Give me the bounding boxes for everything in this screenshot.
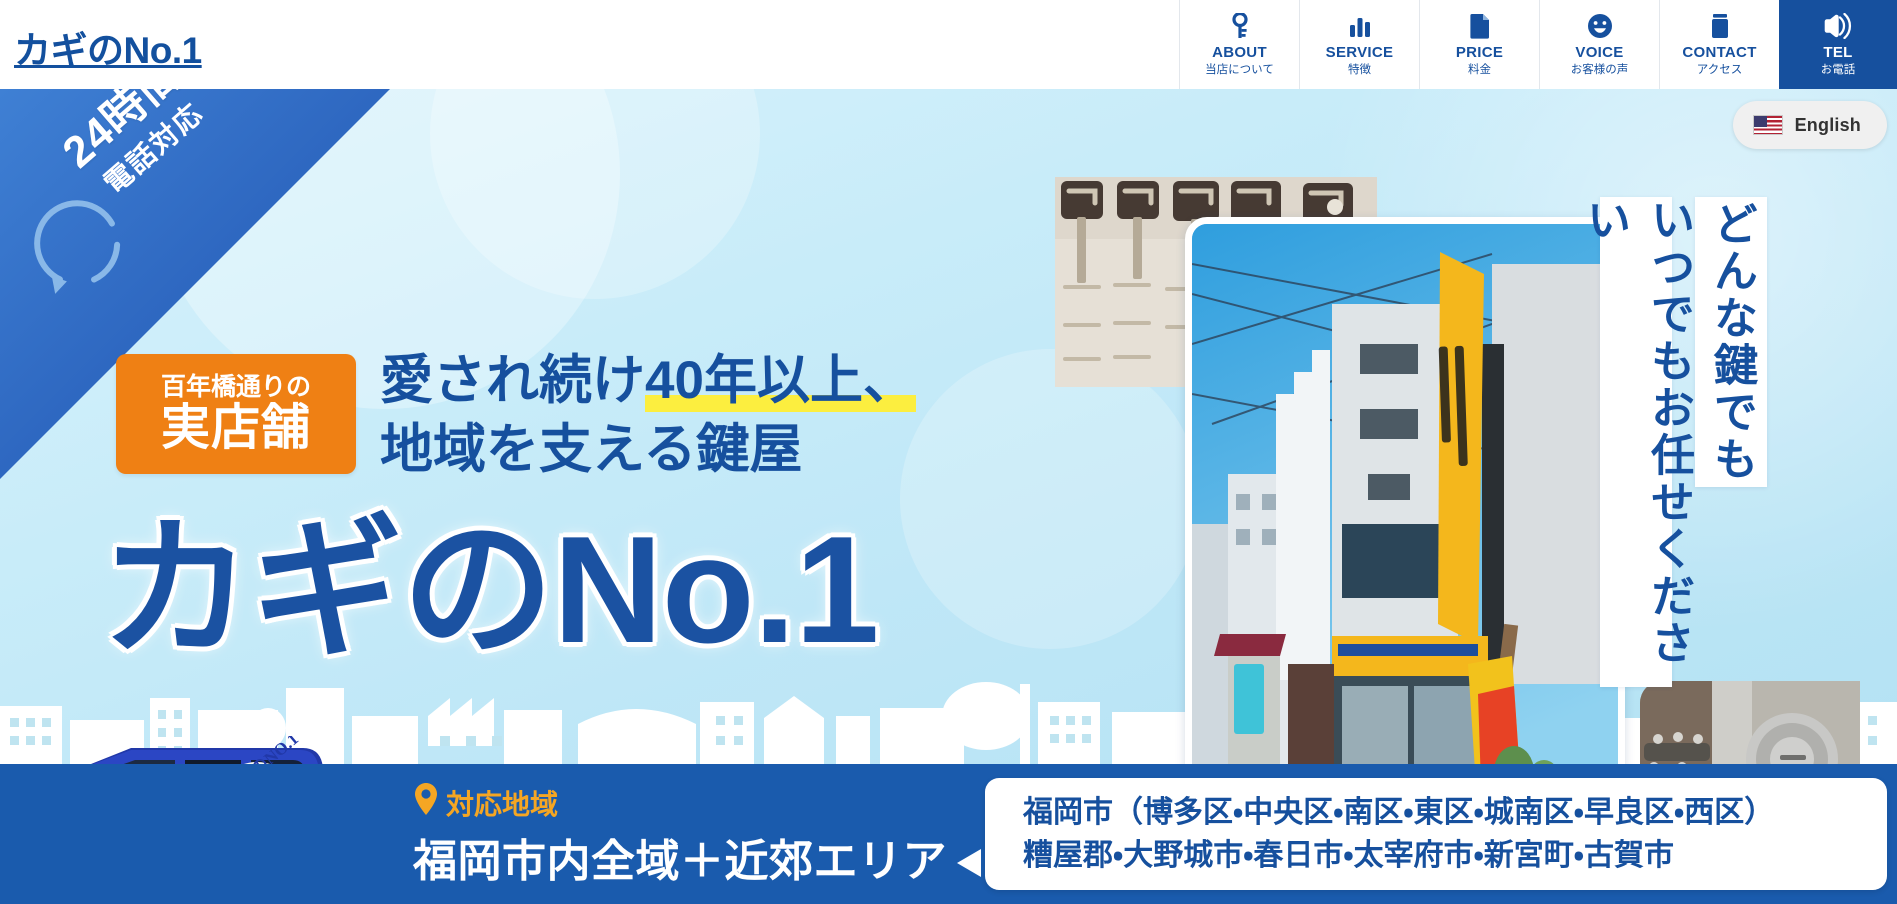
- headline-line-2: 地域を支える鍵屋: [380, 416, 916, 485]
- service-area-kicker-label: 対応地域: [446, 783, 558, 823]
- nav-label-ja: 当店について: [1205, 64, 1274, 78]
- nav-label-ja: アクセス: [1697, 64, 1742, 78]
- site-logo[interactable]: カギのNo.1: [14, 20, 202, 74]
- headline-line-1: 愛され続け40年以上、: [380, 347, 916, 416]
- bg-decor-circle: [900, 349, 1200, 649]
- nav-label-en: CONTACT: [1682, 45, 1756, 62]
- nav-label-en: SERVICE: [1326, 45, 1394, 62]
- language-switcher-label: English: [1795, 115, 1861, 136]
- building-icon: [1710, 11, 1730, 41]
- hero-section: 24時間 電話対応 百年橋通りの 実店舗 愛され続け40年以上、 地域を支える鍵…: [0, 89, 1897, 764]
- us-flag-icon: [1753, 115, 1783, 135]
- service-area-kicker: 対応地域: [413, 782, 947, 823]
- smiley-icon: [1587, 11, 1613, 41]
- photo-storefront: [1185, 217, 1625, 764]
- store-badge-small: 百年橋通りの: [161, 374, 311, 402]
- store-badge-large: 実店舗: [161, 403, 311, 454]
- service-area-main-label: 福岡市内全域＋近郊エリア: [413, 825, 947, 889]
- service-area-line: 福岡市（博多区・中央区・南区・東区・城南区・早良区・西区）: [1023, 791, 1887, 835]
- nav-label-en: PRICE: [1456, 45, 1503, 62]
- site-header: カギのNo.1 ABOUT 当店について: [0, 0, 1897, 89]
- service-area-heading: 対応地域 福岡市内全域＋近郊エリア: [413, 782, 947, 889]
- service-area-line: 糟屋郡・大野城市・春日市・太宰府市・新宮町・古賀市: [1023, 834, 1887, 878]
- map-pin-icon: [413, 782, 439, 823]
- vertical-text-panel-2: どんな鍵でも: [1695, 197, 1767, 487]
- nav-label-en: ABOUT: [1212, 45, 1267, 62]
- nav-item-service[interactable]: SERVICE 特徴: [1299, 0, 1419, 89]
- nav-item-voice[interactable]: VOICE お客様の声: [1539, 0, 1659, 89]
- nav-item-tel[interactable]: TEL お電話: [1779, 0, 1897, 89]
- nav-label-ja: お客様の声: [1571, 64, 1629, 78]
- chart-icon: [1348, 11, 1372, 41]
- key-icon: [1229, 11, 1251, 41]
- nav-label-ja: お電話: [1821, 64, 1856, 78]
- language-switcher[interactable]: English: [1733, 101, 1887, 149]
- refresh-arrow-icon: [16, 185, 146, 320]
- nav-label-en: TEL: [1823, 45, 1852, 62]
- service-area-list: 福岡市（博多区・中央区・南区・東区・城南区・早良区・西区） 糟屋郡・大野城市・春…: [985, 778, 1887, 890]
- nav-item-contact[interactable]: CONTACT アクセス: [1659, 0, 1779, 89]
- vertical-text-panel-1: いつでもお任せください: [1600, 197, 1672, 687]
- arrow-right-icon: [955, 846, 989, 885]
- nav-label-ja: 料金: [1468, 64, 1491, 78]
- nav-label-en: VOICE: [1575, 45, 1623, 62]
- document-icon: [1470, 11, 1490, 41]
- headline-prefix: 愛され続け: [380, 351, 645, 410]
- nav-item-about[interactable]: ABOUT 当店について: [1179, 0, 1299, 89]
- nav-item-price[interactable]: PRICE 料金: [1419, 0, 1539, 89]
- hero-headline: 愛され続け40年以上、 地域を支える鍵屋: [380, 347, 916, 485]
- store-badge: 百年橋通りの 実店舗: [116, 354, 356, 474]
- main-navigation: ABOUT 当店について SERVICE 特徴 PRICE: [1179, 0, 1897, 89]
- phone-ring-icon: [1823, 11, 1853, 41]
- nav-label-ja: 特徴: [1348, 64, 1371, 78]
- photo-cylinder-lock: [1640, 681, 1860, 764]
- headline-highlight: 40年以上、: [645, 347, 916, 416]
- hero-big-title: カギのNo.1: [100, 514, 878, 666]
